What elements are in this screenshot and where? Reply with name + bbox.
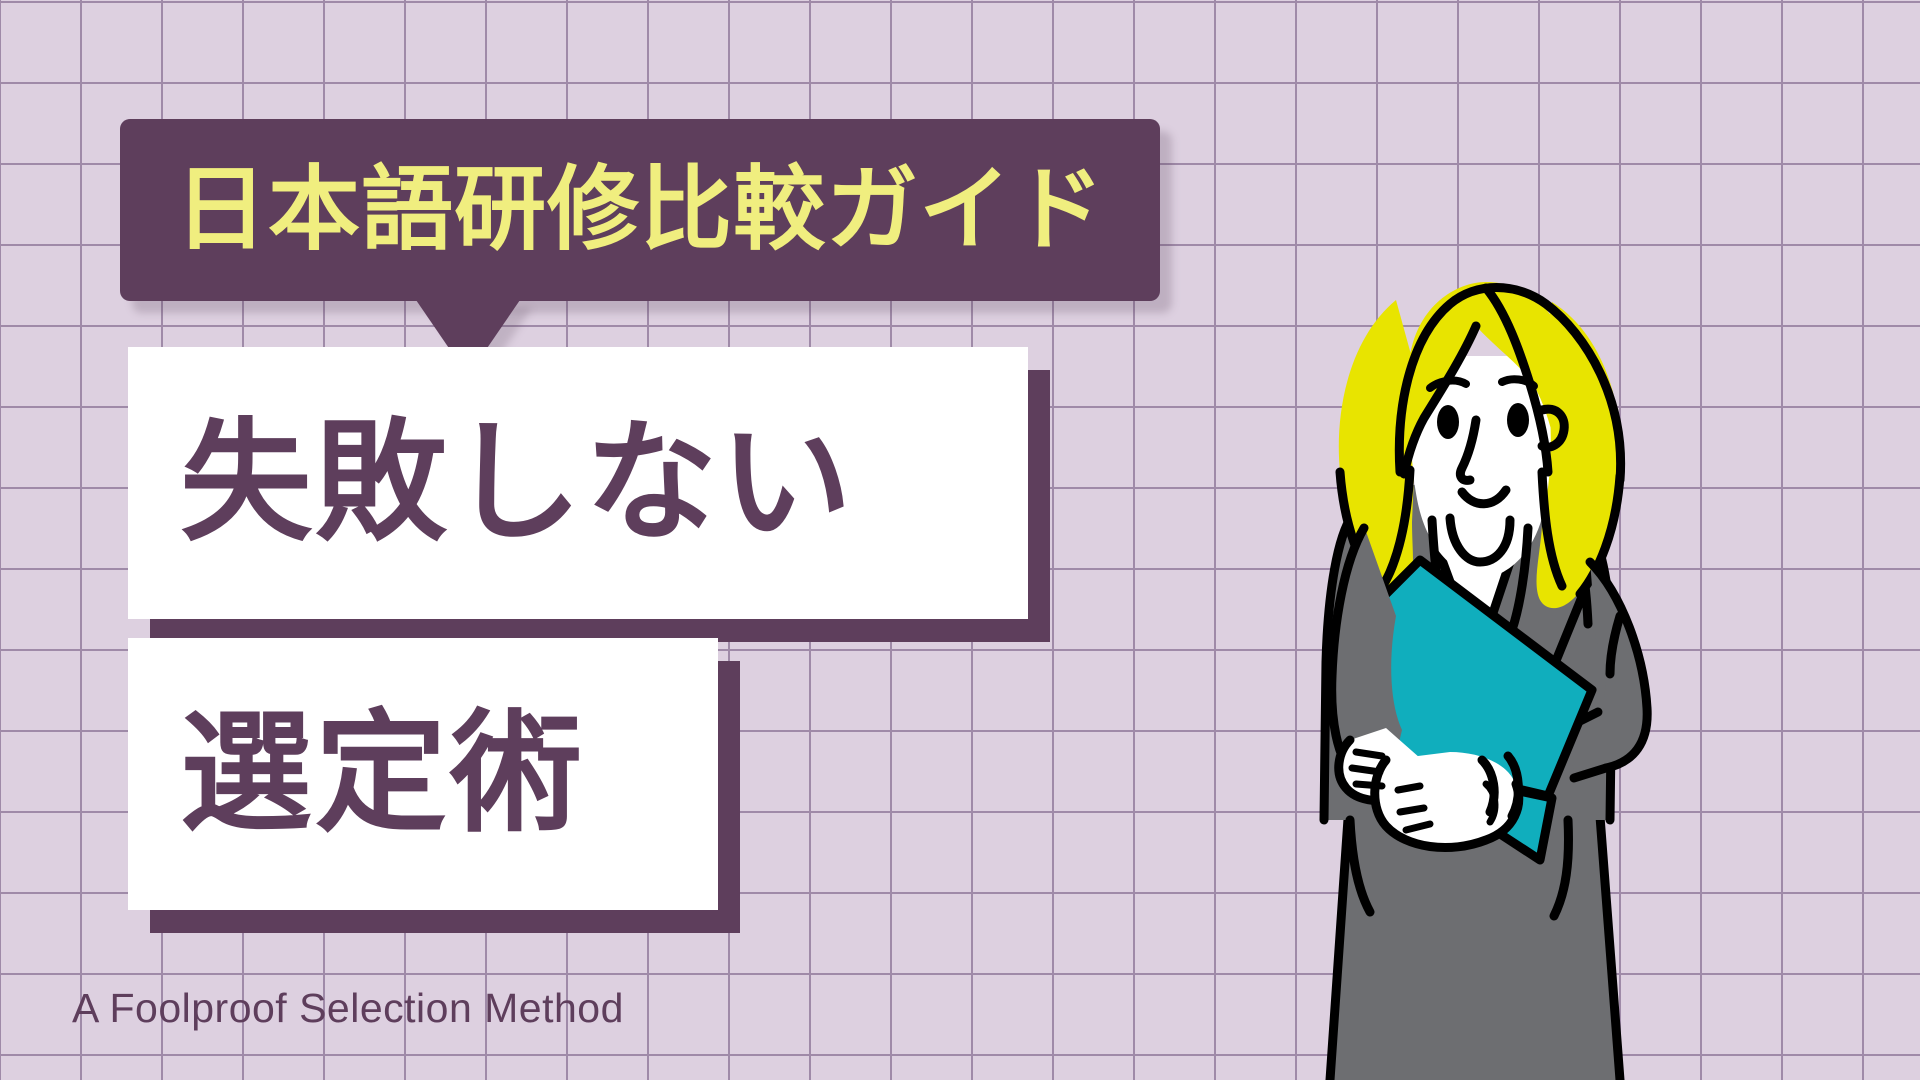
title-banner-body: 日本語研修比較ガイド (120, 119, 1160, 301)
slide-canvas: 日本語研修比較ガイド 失敗しない 選定術 A Foolproof Selecti… (0, 0, 1920, 1080)
headline-box-1: 失敗しない (128, 347, 1028, 619)
headline-line-2: 選定術 (180, 708, 585, 840)
headline-line-1: 失敗しない (180, 417, 855, 549)
title-banner-label: 日本語研修比較ガイド (175, 164, 1105, 256)
subtitle-text: A Foolproof Selection Method (72, 985, 624, 1032)
businesswoman-illustration (1290, 260, 1710, 1080)
headline-box-2: 選定術 (128, 638, 718, 910)
title-banner: 日本語研修比較ガイド (120, 119, 1160, 301)
